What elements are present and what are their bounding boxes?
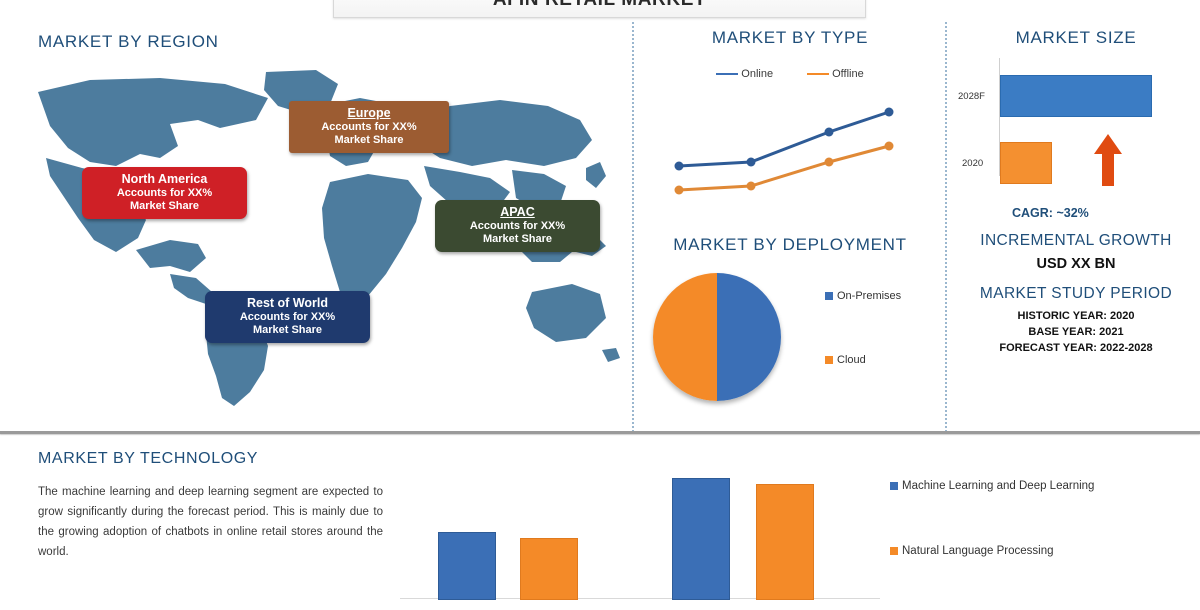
growth-arrow-up-icon <box>1092 132 1124 188</box>
horizontal-divider <box>0 431 1200 434</box>
bar-nlp-2020[interactable] <box>520 538 578 600</box>
market-by-region-heading: MARKET BY REGION <box>38 32 219 52</box>
line-marker-icon <box>807 73 829 76</box>
market-size-bar-chart: 2028F 2020 <box>952 58 1200 178</box>
bar-ml-2028f[interactable] <box>672 478 730 600</box>
bar-ml-2020[interactable] <box>438 532 496 600</box>
callout-title: North America <box>92 172 237 187</box>
historic-year: HISTORIC YEAR: 2020 <box>952 309 1200 325</box>
callout-line2: Market Share <box>215 324 360 337</box>
callout-line1: Accounts for XX% <box>445 220 590 233</box>
legend-item-offline[interactable]: Offline <box>807 68 864 80</box>
market-by-technology-body: The machine learning and deep learning s… <box>38 482 383 563</box>
market-by-type-legend: Online Offline <box>640 68 940 80</box>
vertical-divider-right <box>945 22 947 432</box>
deployment-pie-chart[interactable] <box>653 273 781 401</box>
line-marker-icon <box>716 73 738 76</box>
swatch-icon <box>825 356 833 364</box>
market-by-type-line-chart <box>665 90 920 220</box>
market-by-deployment-heading: MARKET BY DEPLOYMENT <box>640 235 940 255</box>
market-by-technology-heading: MARKET BY TECHNOLOGY <box>38 450 383 468</box>
legend-label: Machine Learning and Deep Learning <box>902 480 1094 492</box>
market-size-section: MARKET SIZE 2028F 2020 CAGR: ~32% <box>952 28 1200 228</box>
callout-north-america[interactable]: North America Accounts for XX% Market Sh… <box>82 167 247 219</box>
bar-2028f[interactable] <box>1000 75 1152 117</box>
vertical-divider-left <box>632 22 634 432</box>
swatch-icon <box>890 547 898 555</box>
legend-item-online[interactable]: Online <box>716 68 773 80</box>
legend-label: Cloud <box>837 354 866 366</box>
forecast-year: FORECAST YEAR: 2022-2028 <box>952 341 1200 357</box>
market-size-heading: MARKET SIZE <box>952 28 1200 48</box>
bar-2020[interactable] <box>1000 142 1052 184</box>
page-title: AI IN RETAIL MARKET <box>493 0 706 11</box>
legend-label: Natural Language Processing <box>902 545 1054 557</box>
market-study-period-heading: MARKET STUDY PERIOD <box>952 285 1200 303</box>
bar-label-2020: 2020 <box>962 158 983 169</box>
callout-line1: Accounts for XX% <box>215 311 360 324</box>
technology-legend: Machine Learning and Deep Learning Natur… <box>890 480 1094 610</box>
market-by-technology-section: MARKET BY TECHNOLOGY The machine learnin… <box>38 450 383 563</box>
bar-nlp-2028f[interactable] <box>756 484 814 600</box>
legend-item-cloud[interactable]: Cloud <box>825 354 901 366</box>
callout-line1: Accounts for XX% <box>299 121 439 134</box>
swatch-icon <box>890 482 898 490</box>
market-by-type-section: MARKET BY TYPE Online Offline <box>640 28 940 228</box>
deployment-legend: On-Premises Cloud <box>825 290 901 366</box>
technology-bar-chart <box>400 462 870 600</box>
incremental-growth-heading: INCREMENTAL GROWTH <box>952 232 1200 250</box>
incremental-growth-value: USD XX BN <box>952 256 1200 272</box>
legend-label: On-Premises <box>837 290 901 302</box>
market-by-deployment-section: MARKET BY DEPLOYMENT On-Premises Cloud <box>640 235 940 415</box>
bar-label-2028f: 2028F <box>958 91 985 102</box>
base-year: BASE YEAR: 2021 <box>952 325 1200 341</box>
legend-label: Online <box>741 68 773 80</box>
legend-item-nlp[interactable]: Natural Language Processing <box>890 545 1094 557</box>
callout-line2: Market Share <box>92 200 237 213</box>
market-by-type-heading: MARKET BY TYPE <box>640 28 940 48</box>
callout-apac[interactable]: APAC Accounts for XX% Market Share <box>435 200 600 252</box>
callout-europe[interactable]: Europe Accounts for XX% Market Share <box>289 101 449 153</box>
callout-title: Rest of World <box>215 296 360 311</box>
callout-rest-of-world[interactable]: Rest of World Accounts for XX% Market Sh… <box>205 291 370 343</box>
callout-line2: Market Share <box>299 134 439 147</box>
callout-title: APAC <box>445 205 590 220</box>
callout-line1: Accounts for XX% <box>92 187 237 200</box>
market-info-section: INCREMENTAL GROWTH USD XX BN MARKET STUD… <box>952 232 1200 357</box>
legend-item-on-premises[interactable]: On-Premises <box>825 290 901 302</box>
swatch-icon <box>825 292 833 300</box>
legend-label: Offline <box>832 68 864 80</box>
callout-title: Europe <box>299 106 439 121</box>
legend-item-machine-learning[interactable]: Machine Learning and Deep Learning <box>890 480 1094 492</box>
callout-line2: Market Share <box>445 233 590 246</box>
cagr-label: CAGR: ~32% <box>1012 206 1089 220</box>
title-bar: AI IN RETAIL MARKET <box>333 0 866 18</box>
